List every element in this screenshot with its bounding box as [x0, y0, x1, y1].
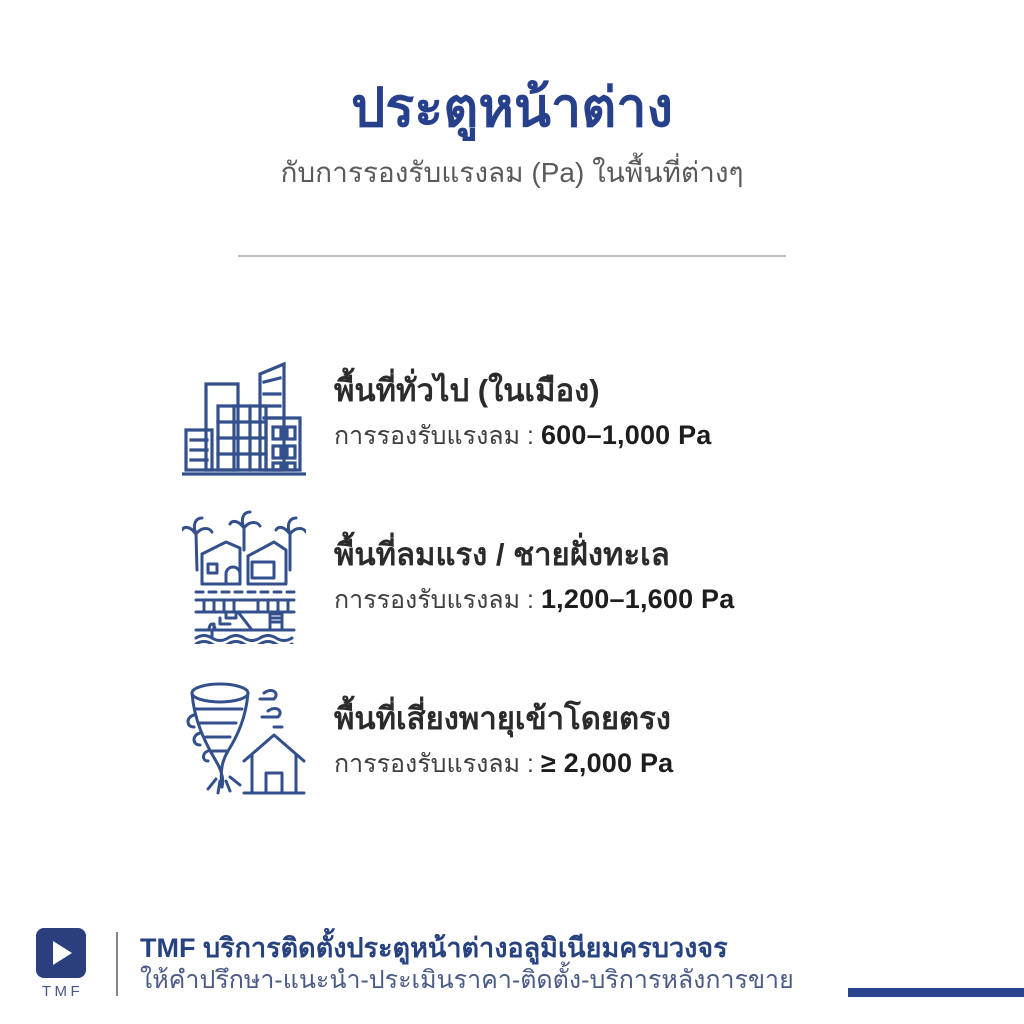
list-item-text: พื้นที่ลมแรง / ชายฝั่งทะเล การรองรับแรงล…: [334, 536, 734, 617]
list-item-title: พื้นที่ลมแรง / ชายฝั่งทะเล: [334, 536, 734, 575]
list-item-value-line: การรองรับแรงลม : ≥ 2,000 Pa: [334, 747, 673, 781]
city-buildings-icon: [178, 342, 310, 482]
list-item-text: พื้นที่ทั่วไป (ในเมือง) การรองรับแรงลม :…: [334, 372, 712, 453]
footer-divider: [116, 932, 118, 996]
list-item-value-label: การรองรับแรงลม :: [334, 586, 534, 614]
header: ประตูหน้าต่าง กับการรองรับแรงลม (Pa) ในพ…: [0, 78, 1024, 190]
list-item: พื้นที่เสี่ยงพายุเข้าโดยตรง การรองรับแรง…: [0, 658, 1024, 822]
footer-text: TMF บริการติดตั้งประตูหน้าต่างอลูมิเนียม…: [140, 932, 794, 995]
brand-logo-wordmark: TMF: [39, 983, 83, 1000]
page-subtitle: กับการรองรับแรงลม (Pa) ในพื้นที่ต่างๆ: [0, 156, 1024, 190]
list-item-value: ≥ 2,000 Pa: [541, 748, 673, 778]
footer-tagline-primary: TMF บริการติดตั้งประตูหน้าต่างอลูมิเนียม…: [140, 932, 794, 965]
list-item-value-label: การรองรับแรงลม :: [334, 422, 534, 450]
footer-tagline-secondary: ให้คำปรึกษา-แนะนำ-ประเมินราคา-ติดตั้ง-บร…: [140, 965, 794, 996]
brand-logo: TMF: [30, 928, 92, 1000]
list-item-value: 600–1,000 Pa: [541, 420, 712, 450]
list-item: พื้นที่ลมแรง / ชายฝั่งทะเล การรองรับแรงล…: [0, 494, 1024, 658]
wind-load-list: พื้นที่ทั่วไป (ในเมือง) การรองรับแรงลม :…: [0, 330, 1024, 822]
header-divider: [238, 255, 786, 257]
play-triangle-logo-icon: [36, 928, 86, 978]
beach-house-palm-icon: [178, 506, 310, 646]
list-item-text: พื้นที่เสี่ยงพายุเข้าโดยตรง การรองรับแรง…: [334, 700, 673, 781]
infographic-page: ประตูหน้าต่าง กับการรองรับแรงลม (Pa) ในพ…: [0, 0, 1024, 1024]
page-title: ประตูหน้าต่าง: [0, 78, 1024, 138]
list-item-title: พื้นที่ทั่วไป (ในเมือง): [334, 372, 712, 411]
list-item-title: พื้นที่เสี่ยงพายุเข้าโดยตรง: [334, 700, 673, 739]
accent-bar: [848, 988, 1024, 997]
footer: TMF TMF บริการติดตั้งประตูหน้าต่างอลูมิเ…: [30, 928, 794, 1000]
tornado-house-icon: [178, 670, 310, 810]
list-item-value: 1,200–1,600 Pa: [541, 584, 734, 614]
list-item: พื้นที่ทั่วไป (ในเมือง) การรองรับแรงลม :…: [0, 330, 1024, 494]
list-item-value-line: การรองรับแรงลม : 600–1,000 Pa: [334, 419, 712, 453]
list-item-value-line: การรองรับแรงลม : 1,200–1,600 Pa: [334, 583, 734, 617]
list-item-value-label: การรองรับแรงลม :: [334, 750, 534, 778]
